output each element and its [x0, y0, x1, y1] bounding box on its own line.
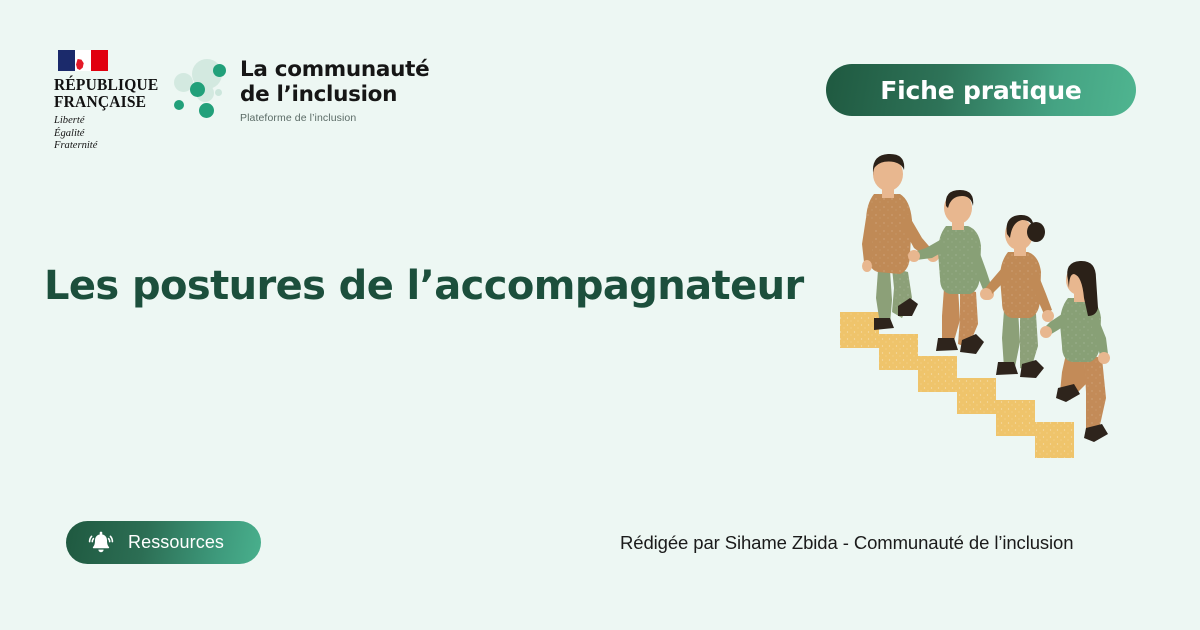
page-title: Les postures de l’accompagnateur: [44, 262, 804, 310]
community-title-line-2: de l’inclusion: [240, 82, 429, 107]
author-credit: Rédigée par Sihame Zbida - Communauté de…: [620, 532, 1073, 554]
poster-canvas: RÉPUBLIQUE FRANÇAISE Liberté Égalité Fra…: [0, 0, 1200, 630]
dot-green-bottom: [199, 103, 214, 118]
stairs-illustration: [818, 148, 1158, 484]
communaute-inclusion-logo: La communauté de l’inclusion Plateforme …: [172, 56, 429, 124]
flag-band-blue: [58, 50, 75, 71]
person-2-climbing: [908, 190, 994, 354]
dot-pale-tiny: [215, 89, 222, 96]
flag-band-white: [75, 50, 92, 71]
motto-egalite: Égalité: [54, 127, 167, 140]
community-title-line-1: La communauté: [240, 57, 429, 82]
fiche-pratique-label: Fiche pratique: [880, 76, 1081, 105]
flag-band-red: [91, 50, 108, 71]
inclusion-dots-logo-icon: [172, 56, 234, 122]
person-3-climbing: [980, 215, 1054, 378]
republique-line-1: RÉPUBLIQUE: [54, 76, 165, 93]
dot-green-left: [174, 100, 184, 110]
communaute-inclusion-text: La communauté de l’inclusion Plateforme …: [240, 56, 429, 124]
person-1-climbing: [862, 154, 939, 330]
republique-line-2: FRANÇAISE: [54, 93, 165, 110]
stairs-shape: [840, 312, 1074, 458]
motto-fraternite: Fraternité: [54, 139, 167, 152]
dot-green-top: [213, 64, 226, 77]
dot-green-mid: [190, 82, 205, 97]
motto-liberte: Liberté: [54, 114, 167, 127]
french-flag-marianne-icon: [58, 50, 108, 71]
republique-francaise-logo: RÉPUBLIQUE FRANÇAISE Liberté Égalité Fra…: [54, 50, 172, 152]
ressources-badge[interactable]: Ressources: [66, 521, 261, 564]
community-subtitle: Plateforme de l’inclusion: [240, 112, 429, 124]
ressources-label: Ressources: [128, 532, 224, 553]
person-4-climbing: [1040, 261, 1110, 442]
fiche-pratique-badge[interactable]: Fiche pratique: [826, 64, 1136, 116]
bell-ringing-icon: [86, 530, 116, 556]
